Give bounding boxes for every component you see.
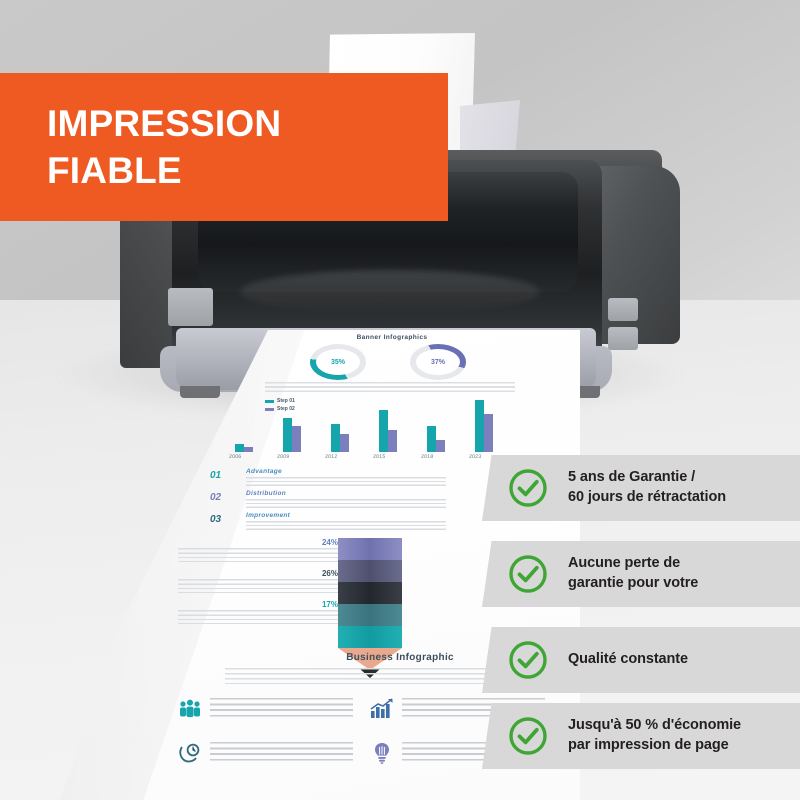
x-tick-2012: 2012 [325, 454, 338, 460]
check-circle-icon [508, 554, 548, 594]
funnel-segment-1 [338, 538, 402, 560]
bar-group-2006 [235, 396, 253, 452]
feature-item-3: Qualité constante [482, 627, 800, 693]
bar-2015-step-01 [379, 410, 388, 452]
funnel-segment-5 [338, 626, 402, 648]
bar-group-2018 [427, 396, 445, 452]
donut-chart-group: 35% 37% [292, 344, 502, 380]
bar-2018-step-01 [427, 426, 436, 452]
donut-chart-1: 35% [310, 344, 366, 380]
printer-side-button-2 [608, 327, 638, 350]
step-title-improvement: Improvement [246, 512, 290, 519]
bar-2006-step-01 [235, 444, 244, 452]
bar-2012-step-02 [340, 434, 349, 452]
x-tick-2018: 2018 [421, 454, 434, 460]
orange-headline-banner: IMPRESSION FIABLE [0, 73, 448, 221]
step-title-distribution: Distribution [246, 490, 286, 497]
business-infographic-paragraph [225, 668, 525, 684]
growth-chart-icon [370, 698, 394, 720]
icon-cell-clock-text [210, 742, 353, 764]
step-item-02: 02 Distribution [210, 490, 510, 512]
printer-control-panel-button [168, 288, 213, 326]
bar-2012-step-01 [331, 424, 340, 452]
bar-2006-step-02 [244, 447, 253, 452]
clock-phone-icon [178, 742, 202, 764]
x-tick-2015: 2015 [373, 454, 386, 460]
bar-2018-step-02 [436, 440, 445, 452]
x-tick-2023: 2023 [469, 454, 482, 460]
bar-chart [235, 396, 525, 452]
feature-item-1-text: 5 ans de Garantie / 60 jours de rétracta… [568, 468, 726, 507]
donut-chart-2-value: 37% [431, 359, 445, 366]
check-circle-icon [508, 640, 548, 680]
people-group-icon [178, 698, 202, 720]
funnel-segment-4 [338, 604, 402, 626]
funnel-body-1 [178, 548, 338, 562]
bar-chart-x-axis-labels: 200620092012201520182023 [225, 454, 525, 464]
step-body-03 [246, 521, 446, 531]
funnel-label-2: 26% [178, 569, 338, 593]
icon-cell-clock [178, 742, 353, 764]
bar-group-2023 [475, 396, 493, 452]
step-body-01 [246, 477, 446, 487]
feature-item-4: Jusqu'à 50 % d'économie par impression d… [482, 703, 800, 769]
bar-group-2009 [283, 396, 301, 452]
feature-item-2-text: Aucune perte de garantie pour votre [568, 554, 698, 593]
bar-2015-step-02 [388, 430, 397, 452]
lightbulb-icon [370, 742, 394, 764]
step-item-01: 01 Advantage [210, 468, 510, 490]
business-infographic-title: Business Infographic [285, 652, 515, 663]
icon-cell-people-text [210, 698, 353, 720]
printer-foot-left [180, 386, 220, 398]
check-circle-icon [508, 716, 548, 756]
step-number-01: 01 [210, 470, 221, 481]
step-item-03: 03 Improvement [210, 512, 510, 534]
x-tick-2009: 2009 [277, 454, 290, 460]
bar-2023-step-01 [475, 400, 484, 452]
feature-item-2: Aucune perte de garantie pour votre [482, 541, 800, 607]
check-circle-icon [508, 468, 548, 508]
bar-2023-step-02 [484, 414, 493, 452]
funnel-body-3 [178, 610, 338, 624]
feature-item-1: 5 ans de Garantie / 60 jours de rétracta… [482, 455, 800, 521]
promo-banner-image: Banner Infographics 35% 37% Step 01 Step… [0, 0, 800, 800]
printer-side-button-1 [608, 298, 638, 321]
step-title-advantage: Advantage [246, 468, 282, 475]
funnel-label-1: 24% [178, 538, 338, 562]
funnel-value-1: 24% [178, 538, 338, 547]
printer-gloss-highlight [240, 270, 540, 314]
funnel-body-2 [178, 579, 338, 593]
bar-2009-step-02 [292, 426, 301, 452]
bar-group-2015 [379, 396, 397, 452]
funnel-segment-3 [338, 582, 402, 604]
donut-chart-2: 37% [410, 344, 466, 380]
step-body-02 [246, 499, 446, 509]
feature-item-4-text: Jusqu'à 50 % d'économie par impression d… [568, 716, 741, 755]
funnel-value-2: 26% [178, 569, 338, 578]
x-tick-2006: 2006 [229, 454, 242, 460]
infographic-lead-paragraph [265, 382, 515, 394]
funnel-value-3: 17% [178, 600, 338, 609]
icon-cell-people [178, 698, 353, 720]
funnel-label-3: 17% [178, 600, 338, 624]
bar-group-2012 [331, 396, 349, 452]
bar-2009-step-01 [283, 418, 292, 452]
headline-text: IMPRESSION FIABLE [47, 100, 281, 195]
infographic-header-title: Banner Infographics [292, 334, 492, 341]
feature-item-3-text: Qualité constante [568, 650, 688, 670]
funnel-percent-labels: 24% 26% 17% [178, 538, 338, 631]
numbered-steps-list: 01 Advantage 02 Distribution 03 Improvem… [210, 468, 510, 534]
donut-chart-1-value: 35% [331, 359, 345, 366]
pencil-funnel-graphic [338, 538, 402, 648]
step-number-02: 02 [210, 492, 221, 503]
step-number-03: 03 [210, 514, 221, 525]
funnel-segment-2 [338, 560, 402, 582]
